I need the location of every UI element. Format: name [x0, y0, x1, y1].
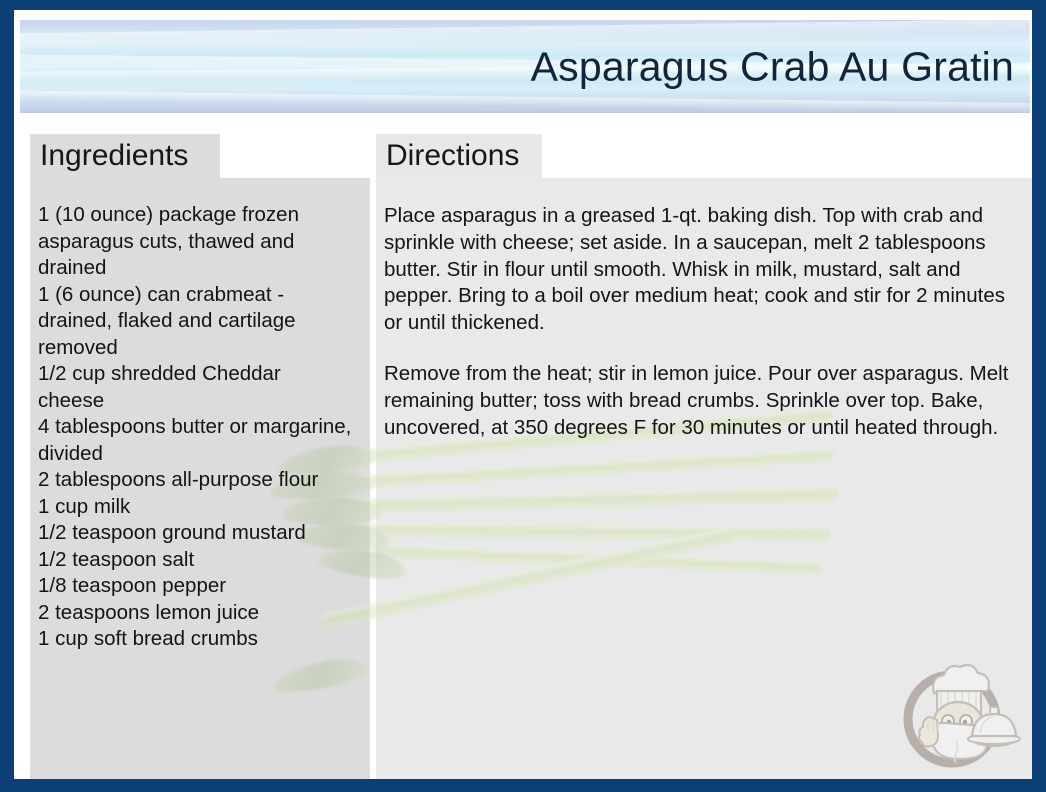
list-item: 1/2 cup shredded Cheddar	[38, 361, 368, 388]
directions-paragraph: Remove from the heat; stir in lemon juic…	[384, 361, 1024, 441]
list-item: 1/2 teaspoon ground mustard	[38, 520, 368, 547]
title-banner: Asparagus Crab Au Gratin	[20, 20, 1030, 113]
list-item: 1 (10 ounce) package frozen	[38, 202, 368, 229]
recipe-card: Asparagus Crab Au Gratin Ingredients Dir…	[0, 0, 1046, 792]
directions-body-text: Place asparagus in a greased 1-qt. bakin…	[384, 203, 1024, 441]
banner-wave-decoration	[20, 90, 1030, 113]
list-item: divided	[38, 441, 368, 468]
list-item: 1 cup soft bread crumbs	[38, 626, 368, 653]
directions-section-tab: Directions	[376, 134, 542, 178]
list-item: drained, flaked and cartilage	[38, 308, 368, 335]
directions-heading: Directions	[386, 139, 519, 173]
list-item: drained	[38, 255, 368, 282]
list-item: 1 (6 ounce) can crabmeat -	[38, 282, 368, 309]
ingredients-list: 1 (10 ounce) package frozen asparagus cu…	[38, 202, 368, 653]
list-item: 2 tablespoons all-purpose flour	[38, 467, 368, 494]
ingredients-section-tab: Ingredients	[30, 134, 220, 178]
list-item: 1/8 teaspoon pepper	[38, 573, 368, 600]
list-item: removed	[38, 335, 368, 362]
list-item: 1/2 teaspoon salt	[38, 547, 368, 574]
list-item: 4 tablespoons butter or margarine,	[38, 414, 368, 441]
list-item: 2 teaspoons lemon juice	[38, 600, 368, 627]
list-item: asparagus cuts, thawed and	[38, 229, 368, 256]
card-inner-surface: Asparagus Crab Au Gratin Ingredients Dir…	[14, 10, 1032, 779]
directions-paragraph: Place asparagus in a greased 1-qt. bakin…	[384, 203, 1024, 337]
ingredients-heading: Ingredients	[40, 139, 188, 173]
list-item: cheese	[38, 388, 368, 415]
list-item: 1 cup milk	[38, 494, 368, 521]
recipe-title: Asparagus Crab Au Gratin	[531, 43, 1014, 90]
